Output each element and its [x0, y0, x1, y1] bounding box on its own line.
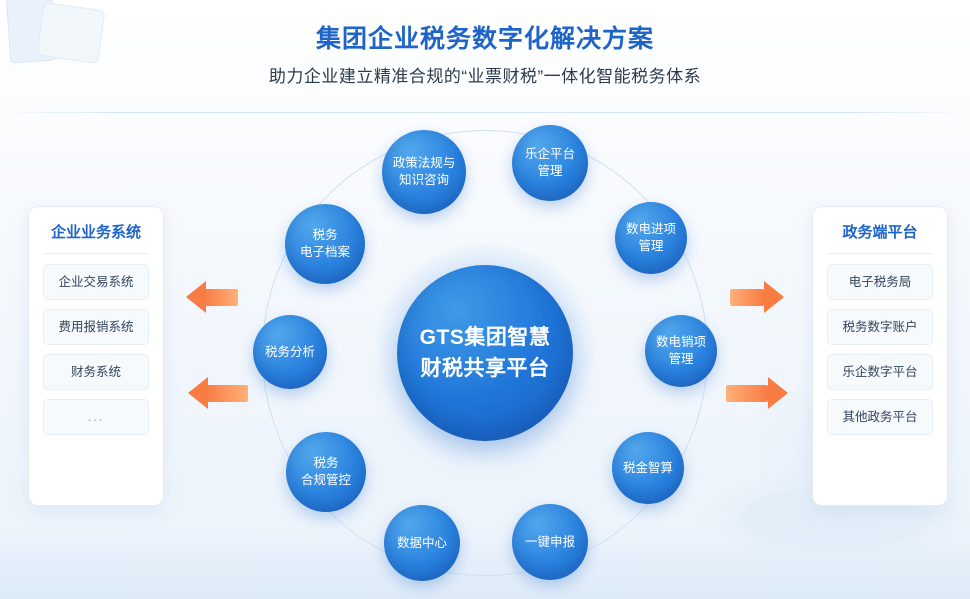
node-tax-analysis-line1: 税务分析 [260, 344, 320, 361]
node-electronic-archive-line1: 税务 [295, 227, 355, 244]
node-input-invoice-line1: 数电进项 [621, 221, 681, 238]
hub-title-line-2: 财税共享平台 [421, 353, 550, 384]
enterprise-systems-panel: 企业业务系统 企业交易系统 费用报销系统 财务系统 ... [28, 206, 164, 506]
diagram-canvas: 集团企业税务数字化解决方案 助力企业建立精准合规的“业票财税”一体化智能税务体系… [0, 0, 970, 599]
hub-title-line-1: GTS集团智慧 [420, 322, 551, 353]
enterprise-system-item-more[interactable]: ... [43, 399, 149, 435]
node-data-center-line1: 数据中心 [392, 535, 452, 552]
node-input-invoice-line2: 管理 [621, 238, 681, 255]
enterprise-systems-title: 企业业务系统 [43, 221, 149, 254]
node-compliance-control-line1: 税务 [296, 455, 356, 472]
government-platforms-title: 政务端平台 [827, 221, 933, 254]
decor-divider-line [0, 112, 970, 113]
node-compliance-control-line2: 合规管控 [296, 472, 356, 489]
node-tax-calculation[interactable]: 税金智算 [612, 432, 684, 504]
government-platform-item-2[interactable]: 税务数字账户 [827, 309, 933, 345]
government-platform-item-1[interactable]: 电子税务局 [827, 264, 933, 300]
header: 集团企业税务数字化解决方案 助力企业建立精准合规的“业票财税”一体化智能税务体系 [0, 22, 970, 90]
node-leqi-platform-line1: 乐企平台 [520, 146, 580, 163]
node-data-center[interactable]: 数据中心 [384, 505, 460, 581]
node-tax-calculation-line1: 税金智算 [618, 460, 678, 477]
node-input-invoice[interactable]: 数电进项 管理 [615, 202, 687, 274]
enterprise-system-item-3[interactable]: 财务系统 [43, 354, 149, 390]
enterprise-system-item-1[interactable]: 企业交易系统 [43, 264, 149, 300]
node-electronic-archive-line2: 电子档案 [295, 244, 355, 261]
node-policy-knowledge-line2: 知识咨询 [388, 172, 461, 189]
node-compliance-control[interactable]: 税务 合规管控 [286, 432, 366, 512]
page-subtitle: 助力企业建立精准合规的“业票财税”一体化智能税务体系 [0, 64, 970, 90]
node-output-invoice-line2: 管理 [651, 351, 711, 368]
node-policy-knowledge[interactable]: 政策法规与 知识咨询 [382, 130, 466, 214]
government-platform-item-3[interactable]: 乐企数字平台 [827, 354, 933, 390]
node-policy-knowledge-line1: 政策法规与 [388, 155, 461, 172]
enterprise-system-item-2[interactable]: 费用报销系统 [43, 309, 149, 345]
node-output-invoice-line1: 数电销项 [651, 334, 711, 351]
node-electronic-archive[interactable]: 税务 电子档案 [285, 204, 365, 284]
node-output-invoice[interactable]: 数电销项 管理 [645, 315, 717, 387]
node-one-click-filing-line1: 一键申报 [520, 534, 580, 551]
node-one-click-filing[interactable]: 一键申报 [512, 504, 588, 580]
node-leqi-platform[interactable]: 乐企平台 管理 [512, 125, 588, 201]
node-tax-analysis[interactable]: 税务分析 [253, 315, 327, 389]
page-title: 集团企业税务数字化解决方案 [0, 22, 970, 56]
node-leqi-platform-line2: 管理 [520, 163, 580, 180]
government-platforms-panel: 政务端平台 电子税务局 税务数字账户 乐企数字平台 其他政务平台 [812, 206, 948, 506]
central-platform-hub[interactable]: GTS集团智慧 财税共享平台 [397, 265, 573, 441]
government-platform-item-4[interactable]: 其他政务平台 [827, 399, 933, 435]
